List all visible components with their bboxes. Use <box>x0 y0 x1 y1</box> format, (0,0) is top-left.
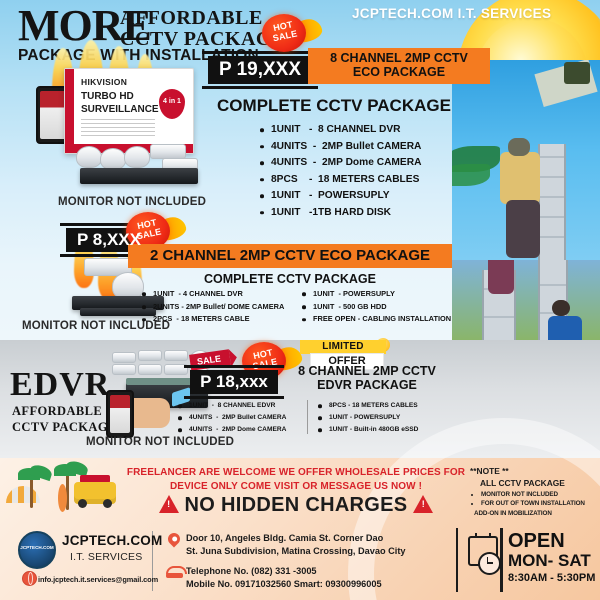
bullet-camera-icon <box>112 364 136 375</box>
list-item: 4UNITS - 2MP Dome CAMERA <box>176 424 286 436</box>
note-addon: ADD-ON IN MOBILIZATION <box>470 510 585 518</box>
package-3-banner: 8 CHANNEL 2MP CCTV EDVR PACKAGE <box>272 362 462 396</box>
logo-line1: JCPTECH.COM <box>20 545 54 550</box>
smartphone-icon <box>106 390 134 438</box>
list-item: 4UNITS - 2MP Bullet CAMERA <box>258 139 421 156</box>
list-item: 8PCS - 18 METERS CABLES <box>316 400 418 412</box>
box-spec-lines <box>81 119 155 139</box>
package-3-item-list-left: 1UNIT - 8 CHANNEL EDVR 4UNITS - 2MP Bull… <box>176 400 286 437</box>
hikvision-title-line1: TURBO HD <box>81 91 134 102</box>
note-title: **NOTE ** <box>470 466 509 476</box>
hikvision-brand-label: HIKVISION <box>81 77 127 87</box>
price-value-1: P 19,XXX <box>219 59 301 80</box>
warning-icon: ! <box>413 495 433 513</box>
footer-brand: JCPTECH.COM <box>62 533 162 548</box>
bullet-camera-icon <box>150 144 186 159</box>
package-2-banner: 2 CHANNEL 2MP CCTV ECO PACKAGE <box>128 244 452 268</box>
price-tag-package-2: P 8,XXX <box>66 228 152 252</box>
list-item: 4UNITS - 2MP Dome CAMERA <box>258 155 421 172</box>
photo-technician-installing <box>452 60 600 260</box>
telephone-number[interactable]: Telephone No. (082) 331 -3005 <box>186 565 382 578</box>
price-value-2: P 8,XXX <box>77 230 141 249</box>
package-1-banner-line1: 8 CHANNEL 2MP CCTV <box>330 52 468 66</box>
limited-label: LIMITED <box>300 340 386 354</box>
hot-sale-badge-1: HOT SALE <box>262 14 308 54</box>
open-hours: 8:30AM - 5:30PM <box>508 572 595 584</box>
package-2-banner-line1: 2 CHANNEL 2MP CCTV ECO PACKAGE <box>150 248 430 265</box>
price-tag-package-3: P 18,xxx <box>190 370 278 394</box>
monitor-note-1: MONITOR NOT INCLUDED <box>58 196 206 208</box>
dome-camera-icon <box>76 146 102 168</box>
list-item: 1UNIT - 8 CHANNEL DVR <box>258 122 421 139</box>
price-value-3: P 18,xxx <box>200 372 268 391</box>
dvr-unit-icon <box>80 168 198 184</box>
list-item: 8PCS - 18 METERS CABLES <box>258 172 421 189</box>
dome-camera-icon <box>124 146 150 168</box>
list-item: FREE OPEN - CABLING INSTALLATION <box>300 313 451 326</box>
hikvision-box: HIKVISION TURBO HD SURVEILLANCE KIT 4 in… <box>64 68 194 154</box>
freelancer-line2: DEVICE ONLY COME VISIT OR MESSAGE US NOW… <box>126 480 466 494</box>
edvr-title: EDVR <box>10 366 110 404</box>
footer-address: Door 10, Angeles Bldg. Camia St. Corner … <box>186 532 406 559</box>
warning-icon: ! <box>159 495 179 513</box>
surfboard-icon <box>58 484 67 512</box>
company-logo: JCPTECH.COM <box>18 531 56 569</box>
no-hidden-charges-text: ! NO HIDDEN CHARGES ! <box>126 494 466 517</box>
note-list: MONITOR NOT INCLUDED FOR OUT OF TOWN INS… <box>470 491 585 508</box>
mobile-number[interactable]: Mobile No. 09171032560 Smart: 0930099600… <box>186 578 382 591</box>
note-section: **NOTE ** ALL CCTV PACKAGE MONITOR NOT I… <box>470 466 585 518</box>
edvr-subtitle-line2: CCTV PACKAGE <box>12 420 117 436</box>
package-1-item-list: 1UNIT - 8 CHANNEL DVR 4UNITS - 2MP Bulle… <box>258 122 421 221</box>
list-item: 1UNIT - 4 CHANNEL DVR <box>140 288 284 301</box>
bullet-camera-icon <box>164 350 188 361</box>
list-item: 4UNITS - 2MP Bullet CAMERA <box>176 412 286 424</box>
package-2-subtitle: COMPLETE CCTV PACKAGE <box>150 272 430 286</box>
four-in-one-badge: 4 in 1 <box>159 89 185 119</box>
list-item: 2PCS - 18 METERS CABLE <box>140 313 284 326</box>
list-divider <box>307 400 308 434</box>
package-1-subtitle: COMPLETE CCTV PACKAGE <box>214 96 454 116</box>
open-label: OPEN <box>508 531 565 551</box>
edvr-subtitle: AFFORDABLE CCTV PACKAGE <box>12 404 117 435</box>
footer-divider-2 <box>456 528 458 592</box>
list-item: 1UNIT - POWERSUPLY <box>258 188 421 205</box>
freelancer-line1: FREELANCER ARE WELCOME WE OFFER WHOLESAL… <box>126 466 466 480</box>
van-icon <box>74 482 116 504</box>
clock-icon <box>478 552 501 575</box>
advertisement-flyer: MORE AFFORDABLE CCTV PACKAGE PACKAGE WIT… <box>0 0 600 600</box>
list-item: 1UNIT - Built-in 480GB eSSD <box>316 424 418 436</box>
address-line2: St. Juna Subdivision, Matina Crossing, D… <box>186 545 406 558</box>
package-3-banner-line1: 8 CHANNEL 2MP CCTV <box>298 365 436 379</box>
bullet-camera-icon <box>138 364 162 375</box>
note-item: FOR OUT OF TOWN INSTALLATION <box>481 500 585 508</box>
footer-email[interactable]: info.jcptech.it.services@gmail.com <box>38 575 158 584</box>
brand-name-top: JCPTECH.COM I.T. SERVICES <box>352 6 551 21</box>
globe-icon <box>22 571 37 586</box>
monitor-note-3: MONITOR NOT INCLUDED <box>86 436 234 448</box>
dome-camera-icon <box>100 148 126 170</box>
package-3-banner-line2: EDVR PACKAGE <box>317 379 417 393</box>
package-2-item-list-right: 1UNIT - POWERSUPLY 1UNIT - 500 GB HDD FR… <box>300 288 451 326</box>
note-item: MONITOR NOT INCLUDED <box>481 491 585 499</box>
package-1-banner: 8 CHANNEL 2MP CCTV ECO PACKAGE <box>308 48 490 84</box>
package-1-banner-line2: ECO PACKAGE <box>353 66 445 80</box>
open-days: MON- SAT <box>508 552 591 569</box>
telephone-icon <box>166 566 183 578</box>
footer-brand-sub: I.T. SERVICES <box>70 551 142 563</box>
footer-phone: Telephone No. (082) 331 -3005 Mobile No.… <box>186 565 382 592</box>
list-item: 1UNIT - POWERSUPLY <box>300 288 451 301</box>
note-subtitle: ALL CCTV PACKAGE <box>470 478 585 489</box>
summer-illustration <box>0 458 132 520</box>
edvr-subtitle-line1: AFFORDABLE <box>12 404 117 420</box>
package-2-item-list-left: 1UNIT - 4 CHANNEL DVR 2UNITS - 2MP Bulle… <box>140 288 284 326</box>
bullet-camera-icon <box>138 350 162 361</box>
package-3-item-list-right: 8PCS - 18 METERS CABLES 1UNIT - POWERSUP… <box>316 400 418 437</box>
product-image-hikvision-kit: HIKVISION TURBO HD SURVEILLANCE KIT 4 in… <box>36 62 208 194</box>
list-item: 1UNIT -1TB HARD DISK <box>258 205 421 222</box>
no-hidden-charges-label: NO HIDDEN CHARGES <box>185 494 408 516</box>
list-item: 1UNIT - 8 CHANNEL EDVR <box>176 400 286 412</box>
freelancer-promo-text: FREELANCER ARE WELCOME WE OFFER WHOLESAL… <box>126 466 466 493</box>
list-item: 1UNIT - 500 GB HDD <box>300 301 451 314</box>
list-item: 1UNIT - POWERSUPLY <box>316 412 418 424</box>
address-line1: Door 10, Angeles Bldg. Camia St. Corner … <box>186 532 406 545</box>
list-item: 2UNITS - 2MP Bullet/ DOME CAMERA <box>140 301 284 314</box>
bullet-camera-icon <box>112 352 136 363</box>
beach-umbrella-icon <box>6 486 40 503</box>
price-tag-package-1: P 19,XXX <box>208 56 312 84</box>
